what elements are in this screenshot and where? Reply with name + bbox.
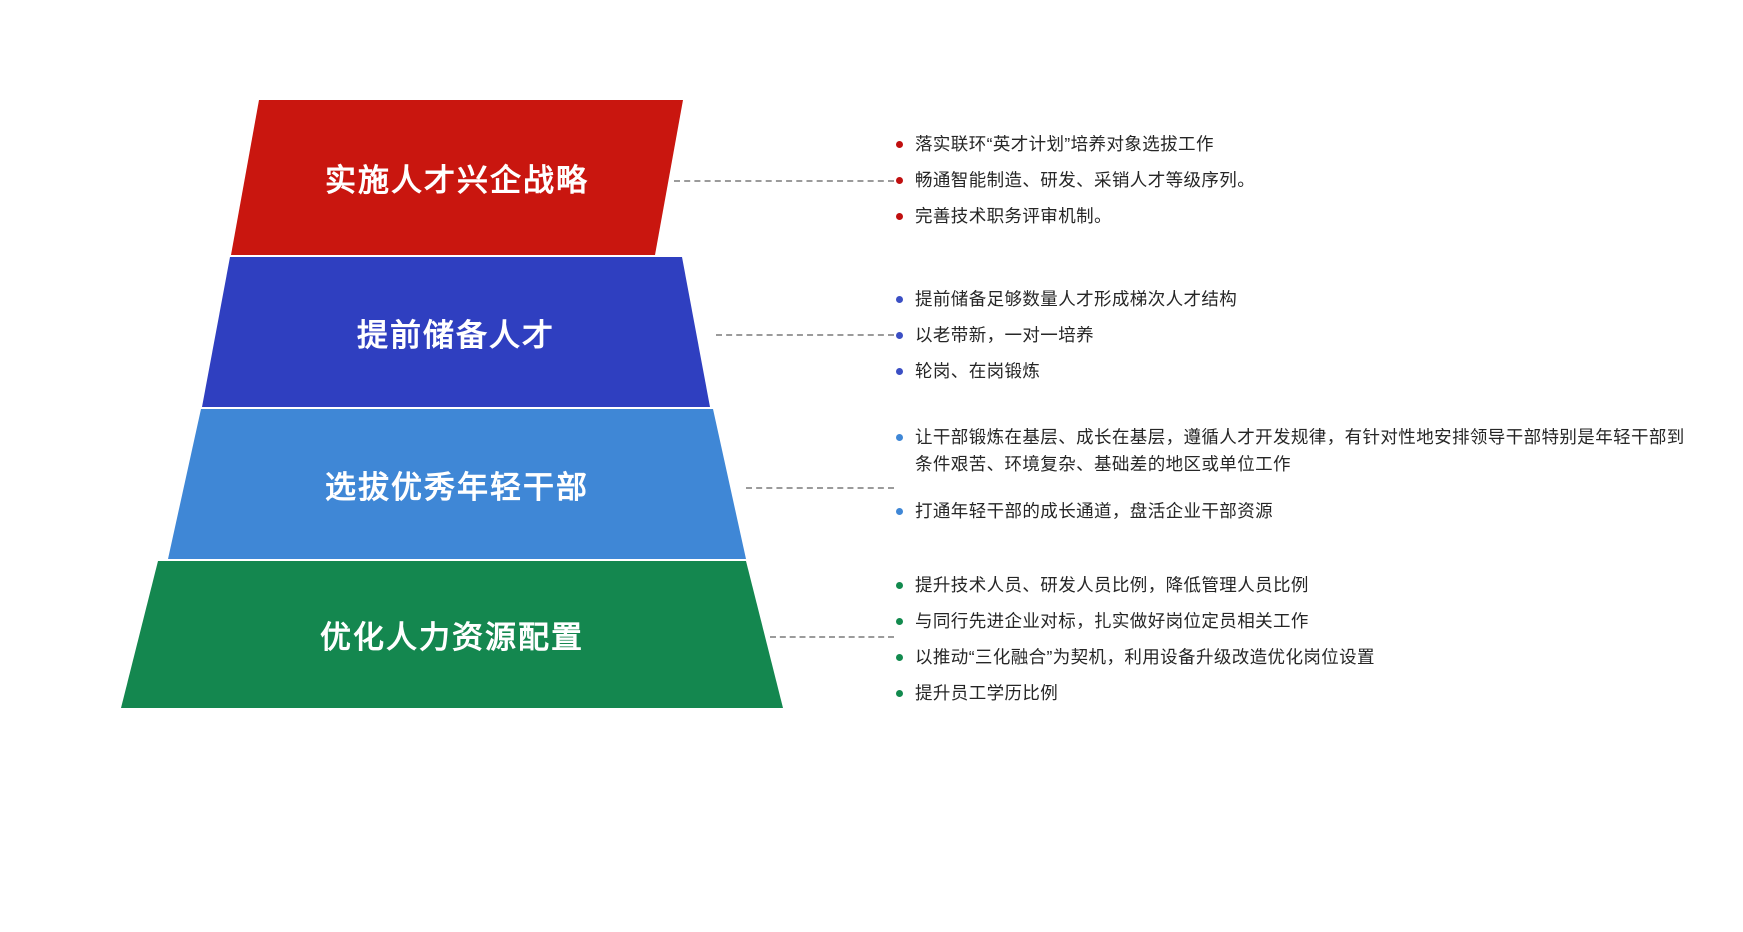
pyramid-layer-1[interactable]: 实施人才兴企战略	[231, 100, 683, 255]
bullet-dot-icon	[896, 434, 903, 441]
bullet-text: 让干部锻炼在基层、成长在基层，遵循人才开发规律，有针对性地安排领导干部特别是年轻…	[915, 424, 1687, 478]
bullet-text: 与同行先进企业对标，扎实做好岗位定员相关工作	[915, 608, 1309, 635]
bullet-item: 让干部锻炼在基层、成长在基层，遵循人才开发规律，有针对性地安排领导干部特别是年轻…	[896, 424, 1716, 478]
bullet-dot-icon	[896, 296, 903, 303]
bullet-group-4: 提升技术人员、研发人员比例，降低管理人员比例 与同行先进企业对标，扎实做好岗位定…	[896, 572, 1716, 717]
bullet-item: 提前储备足够数量人才形成梯次人才结构	[896, 286, 1716, 313]
pyramid-layer-2-label: 提前储备人才	[357, 310, 555, 355]
bullet-item: 提升员工学历比例	[896, 680, 1716, 707]
bullet-group-1: 落实联环“英才计划”培养对象选拔工作 畅通智能制造、研发、采销人才等级序列。 完…	[896, 131, 1716, 239]
pyramid-layer-1-label: 实施人才兴企战略	[325, 155, 589, 200]
bullet-item: 完善技术职务评审机制。	[896, 203, 1716, 230]
bullet-text: 提前储备足够数量人才形成梯次人才结构	[915, 286, 1237, 313]
bullet-item: 以老带新，一对一培养	[896, 322, 1716, 349]
connector-line-1	[674, 180, 894, 182]
bullet-item: 轮岗、在岗锻炼	[896, 358, 1716, 385]
pyramid-layer-4-label: 优化人力资源配置	[320, 612, 584, 657]
bullet-item: 以推动“三化融合”为契机，利用设备升级改造优化岗位设置	[896, 644, 1716, 671]
bullet-text: 提升技术人员、研发人员比例，降低管理人员比例	[915, 572, 1309, 599]
bullet-item: 提升技术人员、研发人员比例，降低管理人员比例	[896, 572, 1716, 599]
bullet-dot-icon	[896, 177, 903, 184]
bullet-dot-icon	[896, 332, 903, 339]
bullet-text: 畅通智能制造、研发、采销人才等级序列。	[915, 167, 1255, 194]
bullet-dot-icon	[896, 582, 903, 589]
bullet-text: 完善技术职务评审机制。	[915, 203, 1112, 230]
bullet-dot-icon	[896, 508, 903, 515]
bullet-dot-icon	[896, 618, 903, 625]
connector-line-2	[716, 334, 894, 336]
bullet-item: 与同行先进企业对标，扎实做好岗位定员相关工作	[896, 608, 1716, 635]
pyramid-layer-3-label: 选拔优秀年轻干部	[325, 462, 589, 507]
bullet-group-3: 让干部锻炼在基层、成长在基层，遵循人才开发规律，有针对性地安排领导干部特别是年轻…	[896, 424, 1716, 545]
bullet-text: 以老带新，一对一培养	[915, 322, 1094, 349]
bullet-dot-icon	[896, 213, 903, 220]
bullet-item: 畅通智能制造、研发、采销人才等级序列。	[896, 167, 1716, 194]
bullet-text: 提升员工学历比例	[915, 680, 1058, 707]
bullet-item: 打通年轻干部的成长通道，盘活企业干部资源	[896, 498, 1716, 525]
pyramid-layer-3[interactable]: 选拔优秀年轻干部	[168, 409, 746, 559]
bullet-dot-icon	[896, 141, 903, 148]
bullet-text: 以推动“三化融合”为契机，利用设备升级改造优化岗位设置	[915, 644, 1375, 671]
bullet-dot-icon	[896, 654, 903, 661]
pyramid-layer-4[interactable]: 优化人力资源配置	[121, 561, 783, 708]
pyramid-diagram-canvas: 实施人才兴企战略 提前储备人才 选拔优秀年轻干部 优化人力资源配置 落实联环“英…	[0, 0, 1743, 932]
bullet-dot-icon	[896, 368, 903, 375]
bullet-dot-icon	[896, 690, 903, 697]
bullet-text: 轮岗、在岗锻炼	[915, 358, 1040, 385]
bullet-text: 落实联环“英才计划”培养对象选拔工作	[915, 131, 1214, 158]
bullet-group-2: 提前储备足够数量人才形成梯次人才结构 以老带新，一对一培养 轮岗、在岗锻炼	[896, 286, 1716, 394]
connector-line-3	[746, 487, 894, 489]
pyramid-layer-2[interactable]: 提前储备人才	[202, 257, 710, 407]
connector-line-4	[770, 636, 894, 638]
bullet-item: 落实联环“英才计划”培养对象选拔工作	[896, 131, 1716, 158]
bullet-text: 打通年轻干部的成长通道，盘活企业干部资源	[915, 498, 1273, 525]
